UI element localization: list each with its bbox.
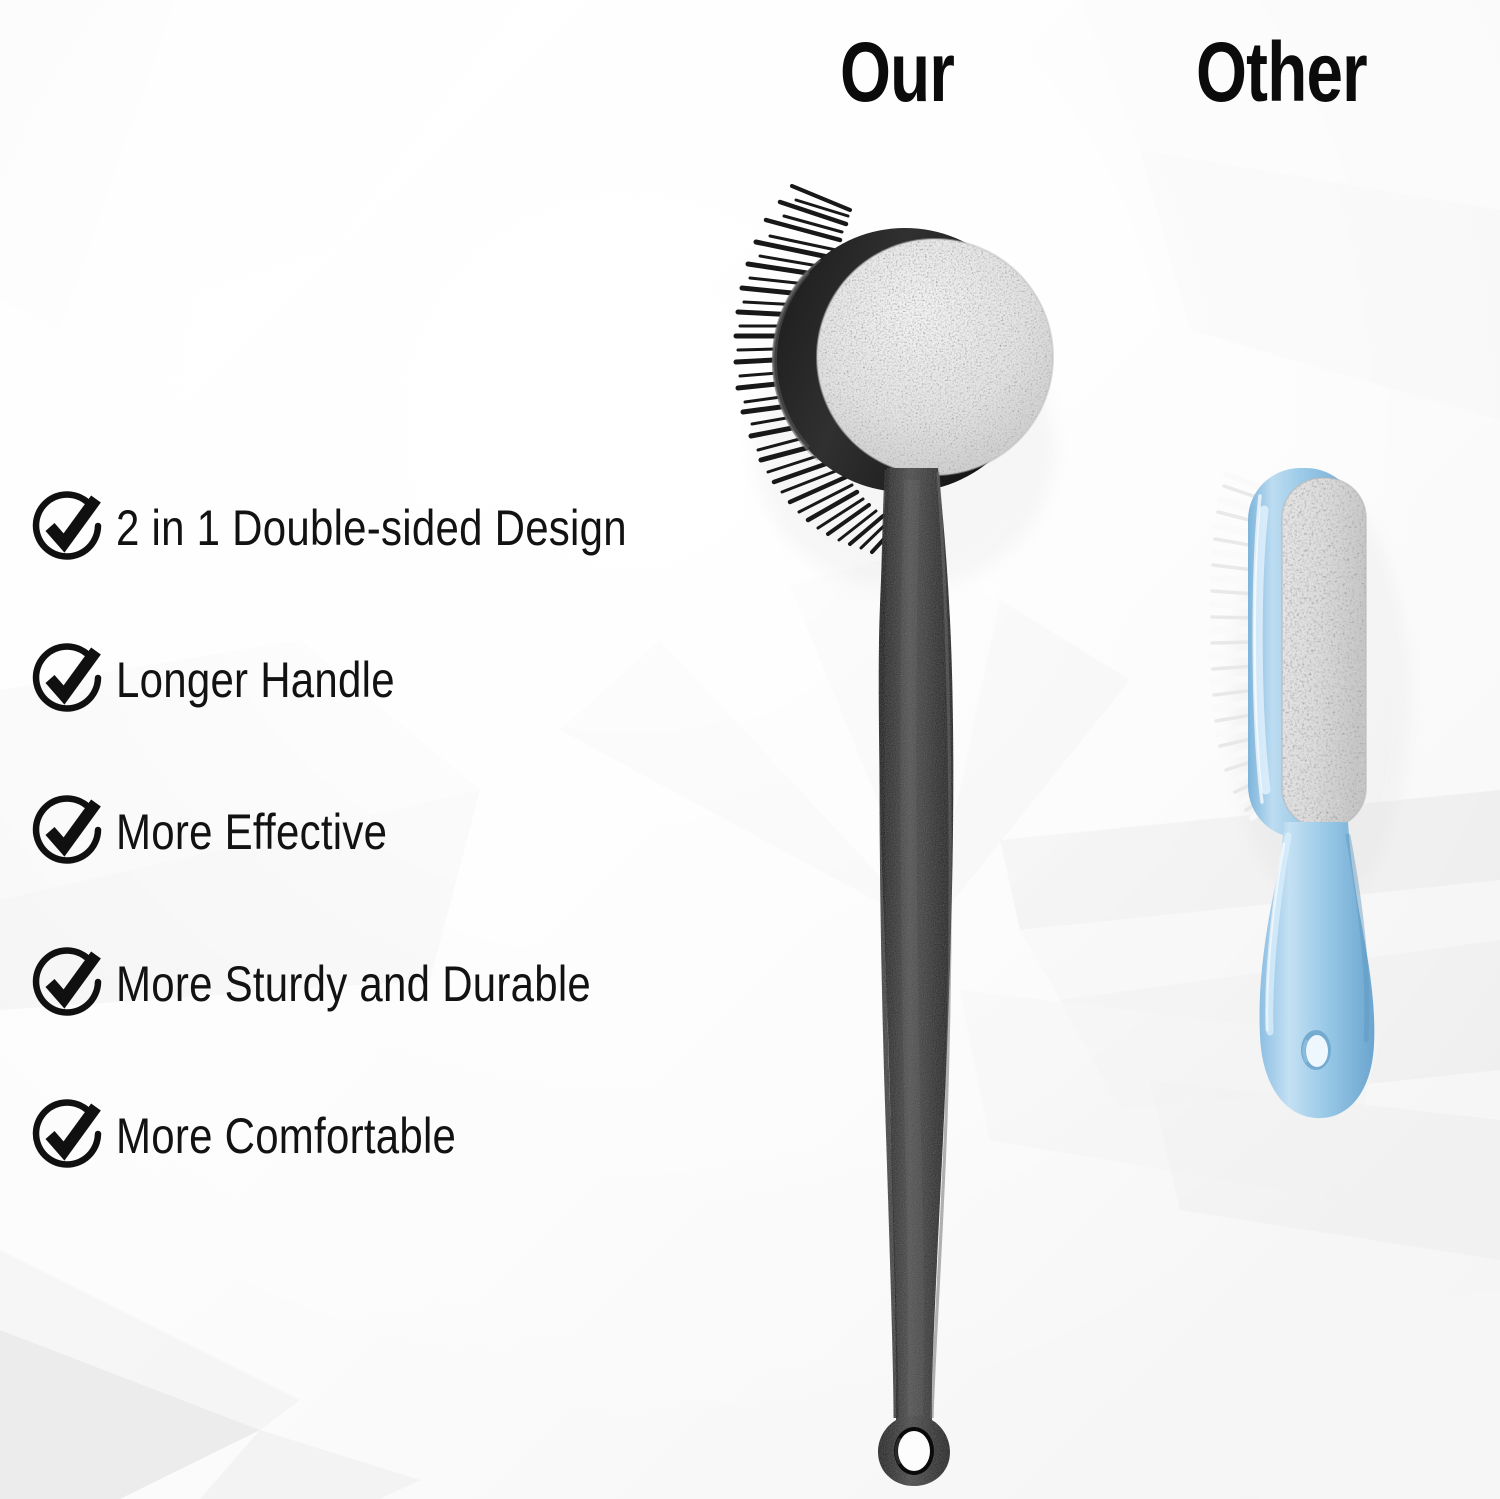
feature-item: 2 in 1 Double-sided Design [24,452,844,604]
feature-item: More Comfortable [24,1060,844,1212]
column-header-our: Our [840,30,954,114]
other-hang-hole [1301,1030,1331,1070]
feature-label: Longer Handle [116,655,395,705]
feature-list: 2 in 1 Double-sided Design Longer Handle… [24,452,844,1212]
feature-label: More Comfortable [116,1111,456,1161]
check-circle-icon [24,485,110,571]
our-hang-hole [894,1427,934,1475]
feature-label: More Effective [116,807,387,857]
comparison-image: Our Other [0,0,1500,1499]
feature-label: 2 in 1 Double-sided Design [116,503,627,553]
column-header-other: Other [1196,30,1367,114]
check-circle-icon [24,637,110,723]
other-product-image [1200,450,1470,1150]
other-pumice-stone [1282,478,1366,828]
our-pumice-stone [817,239,1053,475]
feature-item: More Effective [24,756,844,908]
check-circle-icon [24,1093,110,1179]
feature-item: Longer Handle [24,604,844,756]
feature-label: More Sturdy and Durable [116,959,591,1009]
check-circle-icon [24,941,110,1027]
feature-item: More Sturdy and Durable [24,908,844,1060]
our-handle [878,468,953,1486]
check-circle-icon [24,789,110,875]
